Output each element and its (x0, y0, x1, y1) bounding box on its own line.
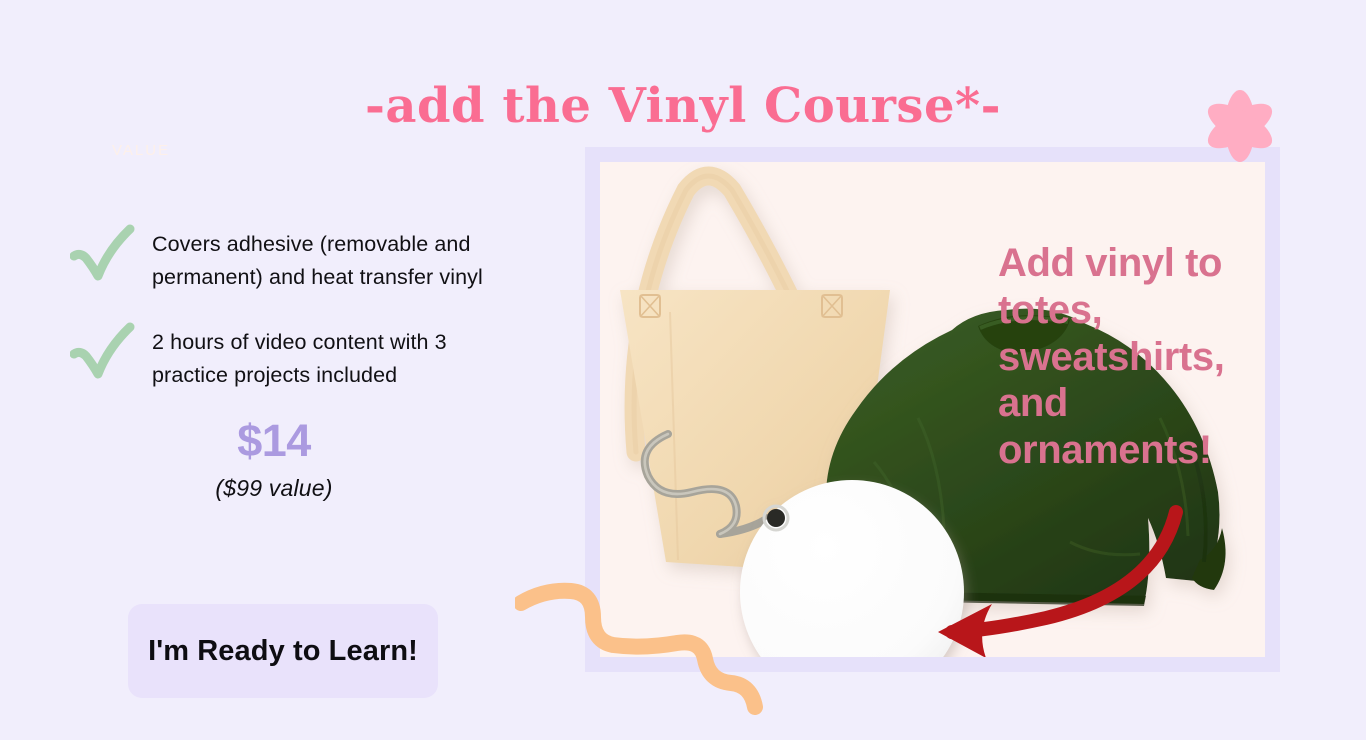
flower-icon (1186, 74, 1294, 178)
benefit-item-1: Covers adhesive (removable and permanent… (70, 222, 540, 294)
price-amount: $14 (158, 418, 390, 463)
check-icon (70, 224, 136, 286)
price-value-note: ($99 value) (158, 475, 390, 502)
cta-button[interactable]: I'm Ready to Learn! (128, 604, 438, 698)
value-watermark: VALUE (112, 142, 170, 159)
squiggle-line (515, 555, 795, 715)
benefit-label: Covers adhesive (removable and permanent… (152, 222, 504, 294)
check-icon (70, 322, 136, 384)
promo-banner: -add the Vinyl Course*- VALUE Covers adh… (0, 0, 1366, 740)
benefit-label: 2 hours of video content with 3 practice… (152, 320, 504, 392)
offer-details: Covers adhesive (removable and permanent… (70, 222, 540, 502)
page-title: -add the Vinyl Course*- (0, 78, 1366, 134)
benefit-item-2: 2 hours of video content with 3 practice… (70, 320, 540, 392)
price-block: $14 ($99 value) (70, 418, 390, 502)
